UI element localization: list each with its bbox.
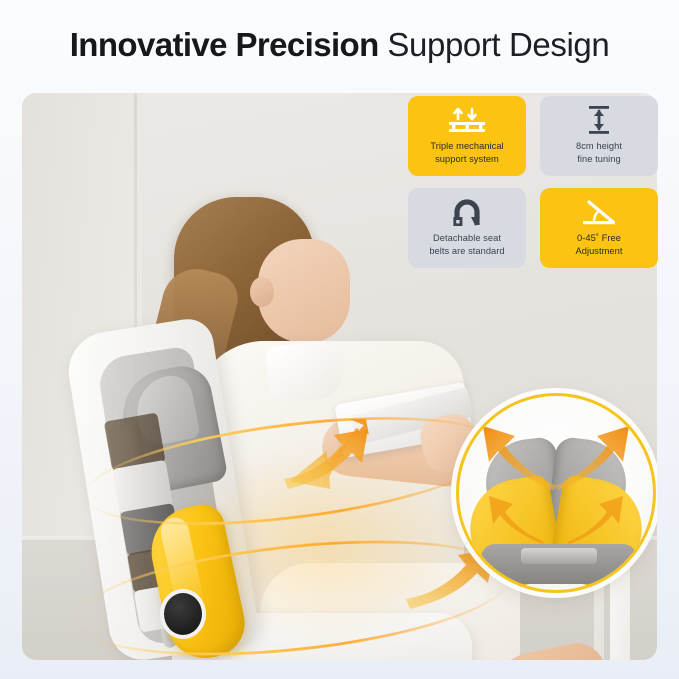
- inset-arrow-icon: [563, 492, 625, 546]
- seatbelt-harness-icon: [451, 197, 483, 227]
- page-title-light: Support Design: [379, 26, 610, 63]
- angle-icon: [580, 197, 618, 227]
- badge-label: Triple mechanical support system: [430, 140, 503, 165]
- badge-label: 0-45˚ Free Adjustment: [575, 232, 622, 257]
- inset-arrow-icon: [487, 492, 549, 546]
- support-arrow-icon: [282, 419, 374, 491]
- inset-arrow-icon: [481, 420, 561, 490]
- vertical-double-arrow-icon: [585, 105, 613, 135]
- inset-base-mechanism: [521, 548, 597, 564]
- page-title: Innovative Precision Support Design: [0, 26, 679, 64]
- feature-badge-panel: Triple mechanical support system 8cm hei…: [408, 96, 658, 268]
- inset-arrow-icon: [551, 420, 631, 490]
- inset-detail-circle: [456, 393, 656, 593]
- fence-arrows-icon: [446, 105, 488, 135]
- page-title-bold: Innovative Precision: [70, 26, 379, 63]
- badge-triple-support[interactable]: Triple mechanical support system: [408, 96, 526, 176]
- badge-label: Detachable seat belts are standard: [429, 232, 504, 257]
- girl-ear: [250, 277, 274, 307]
- badge-seat-belts[interactable]: Detachable seat belts are standard: [408, 188, 526, 268]
- badge-free-adjustment[interactable]: 0-45˚ Free Adjustment: [540, 188, 658, 268]
- badge-height-tuning[interactable]: 8cm height fine tuning: [540, 96, 658, 176]
- badge-label: 8cm height fine tuning: [576, 140, 622, 165]
